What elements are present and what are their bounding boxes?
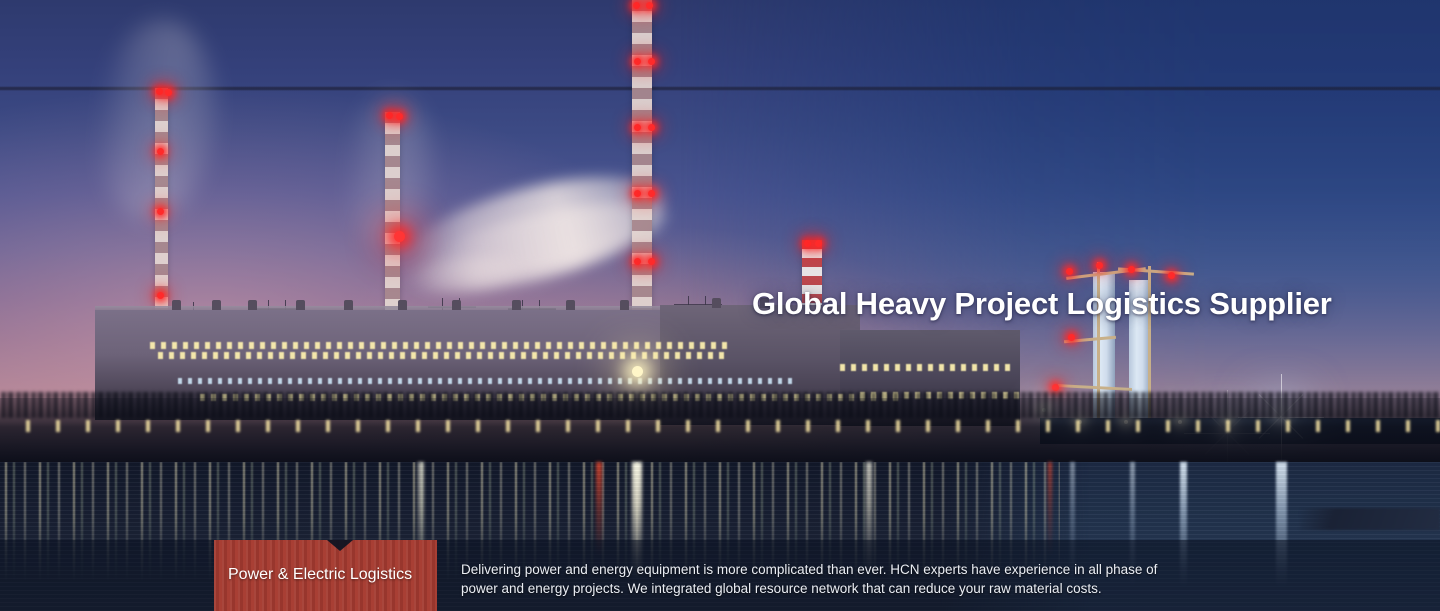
aviation-light — [634, 58, 641, 65]
aviation-light — [634, 124, 641, 131]
roof-vent — [296, 300, 305, 310]
chimney-stack-main — [632, 0, 652, 330]
aviation-light — [634, 190, 641, 197]
aviation-light — [157, 292, 164, 299]
category-card-notch — [327, 540, 353, 551]
aviation-light — [648, 258, 655, 265]
overhead-cable — [0, 86, 1440, 91]
crane-warning-light — [1128, 266, 1135, 273]
hero-headline: Global Heavy Project Logistics Supplier — [752, 286, 1332, 322]
aviation-light — [157, 148, 164, 155]
roof-vent — [620, 300, 629, 310]
aviation-light — [165, 89, 172, 96]
roof-vent — [712, 298, 721, 308]
far-shore-spit — [1300, 508, 1440, 530]
category-card-label: Power & Electric Logistics — [228, 566, 412, 584]
roof-vent — [172, 300, 181, 310]
aviation-light — [156, 88, 163, 95]
building-window-row — [158, 352, 728, 359]
crane-warning-light — [1096, 262, 1103, 269]
crane-warning-light — [1168, 272, 1175, 279]
hero-banner: Global Heavy Project Logistics Supplier … — [0, 0, 1440, 611]
aviation-light — [648, 58, 655, 65]
aviation-light — [634, 258, 641, 265]
roof-vent — [452, 300, 461, 310]
roof-vent — [212, 300, 221, 310]
crane-warning-light — [1068, 334, 1075, 341]
aviation-light — [815, 240, 822, 247]
crane-warning-light — [1066, 268, 1073, 275]
roof-vent — [512, 300, 521, 310]
aviation-light — [648, 124, 655, 131]
aviation-light — [396, 113, 403, 120]
crane-warning-light — [1052, 384, 1059, 391]
aviation-beacon — [394, 231, 405, 242]
roof-vent — [344, 300, 353, 310]
shoreline-dark-band — [0, 398, 1440, 470]
building-window-row — [150, 342, 730, 349]
aviation-light — [157, 208, 164, 215]
plant-floodlight — [632, 366, 643, 377]
aviation-light — [633, 2, 640, 9]
building-window-row — [840, 364, 1010, 371]
aviation-light — [648, 190, 655, 197]
roof-vent — [248, 300, 257, 310]
aviation-light — [646, 2, 653, 9]
aviation-light — [386, 112, 393, 119]
aviation-light — [804, 240, 811, 247]
roof-vent — [566, 300, 575, 310]
hero-description: Delivering power and energy equipment is… — [461, 560, 1173, 598]
building-window-row — [178, 378, 798, 384]
shore-light-row — [0, 420, 1440, 432]
roof-vent — [398, 300, 407, 310]
